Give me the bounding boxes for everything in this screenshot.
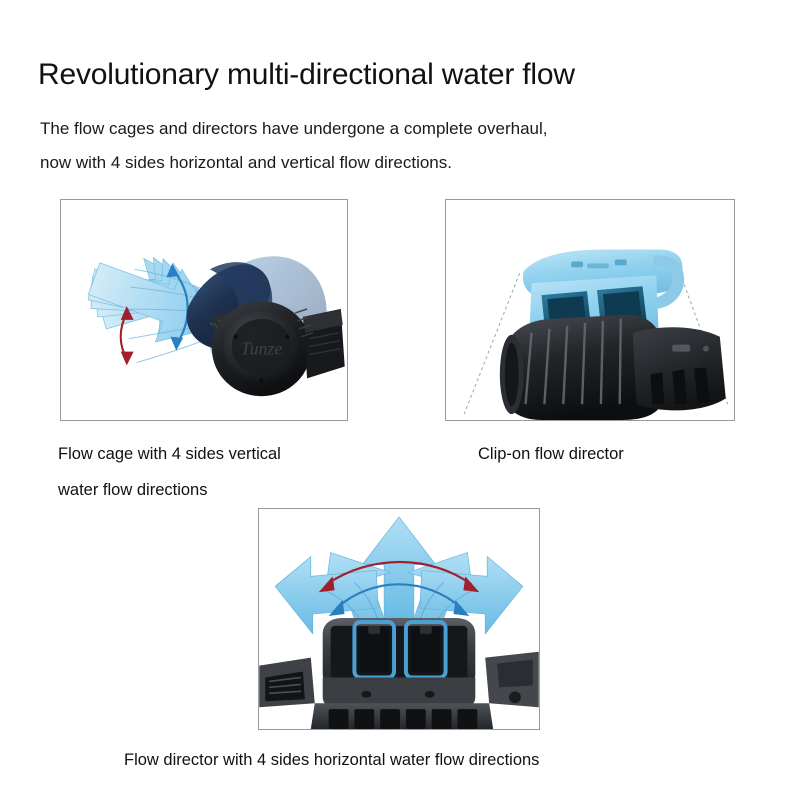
- caption-flow-cage-line-2: water flow directions: [58, 472, 281, 508]
- flow-cage-illustration: Tunze: [61, 200, 347, 420]
- figure-clip-on-director: [445, 199, 735, 421]
- left-dash-panel: [259, 658, 314, 708]
- mounting-bracket: [303, 309, 345, 378]
- caption-flow-cage: Flow cage with 4 sides vertical water fl…: [58, 436, 281, 508]
- caption-flow-director-horizontal-line-1: Flow director with 4 sides horizontal wa…: [124, 742, 684, 778]
- housing-tab: [672, 345, 690, 352]
- figure-flow-director-horizontal: [258, 508, 540, 730]
- intro-line-2: now with 4 sides horizontal and vertical…: [40, 146, 740, 180]
- rear-housing: [633, 327, 726, 410]
- caption-flow-director-horizontal: Flow director with 4 sides horizontal wa…: [124, 742, 684, 778]
- director-housing: [323, 618, 476, 709]
- rear-vents: [650, 367, 709, 404]
- brand-logo-mark: Tunze: [241, 339, 283, 359]
- page-title: Revolutionary multi-directional water fl…: [38, 58, 575, 92]
- lower-grille: [311, 703, 493, 729]
- nozzle-left: [354, 622, 394, 677]
- intro-line-1: The flow cages and directors have underg…: [40, 112, 740, 146]
- caption-flow-cage-line-1: Flow cage with 4 sides vertical: [58, 436, 281, 472]
- flow-director-horizontal-illustration: [259, 509, 539, 729]
- caption-clip-on-director: Clip-on flow director: [478, 436, 624, 472]
- right-dash-panel: [485, 652, 539, 707]
- intro-paragraph: The flow cages and directors have underg…: [40, 112, 740, 180]
- caption-clip-on-director-line-1: Clip-on flow director: [478, 436, 624, 472]
- nozzle-right: [406, 622, 446, 677]
- figure-flow-cage: Tunze: [60, 199, 348, 421]
- clip-on-director-illustration: [446, 200, 734, 420]
